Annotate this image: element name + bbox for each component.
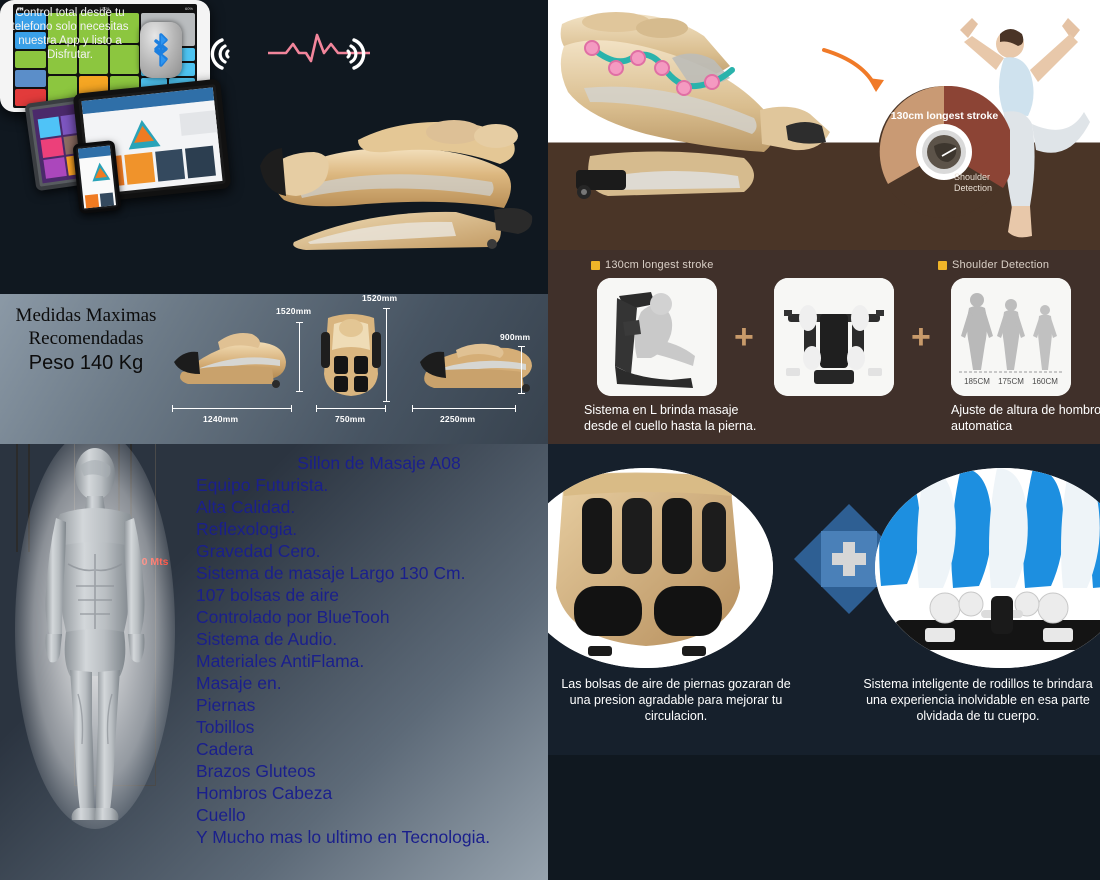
feature-list: Sillon de Masaje A08 Equipo Futurista. A… bbox=[196, 452, 536, 848]
feature-item: Gravedad Cero. bbox=[196, 540, 536, 562]
dim-bar-w2 bbox=[316, 408, 386, 409]
bluetooth-icon bbox=[140, 22, 182, 78]
tag-shoulder-detection-label: Shoulder Detection bbox=[952, 259, 1049, 271]
donut-shoulder-label: Shoulder Detection bbox=[954, 172, 1004, 194]
feature-item: Reflexologia. bbox=[196, 518, 536, 540]
feature-item: Equipo Futurista. bbox=[196, 474, 536, 496]
dim-bar-h3 bbox=[521, 346, 522, 394]
measures-panel: Medidas Maximas Recomendadas Peso 140 Kg… bbox=[0, 294, 548, 444]
feet-caption-right: Sistema inteligente de rodillos te brind… bbox=[858, 676, 1098, 724]
app-caption-text: Control total desde tu telefono solo nec… bbox=[4, 6, 136, 62]
phone-small-mock bbox=[72, 140, 121, 214]
feature-item: Hombros Cabeza bbox=[196, 782, 536, 804]
measures-title-line1: Medidas Maximas bbox=[6, 304, 166, 327]
dim-height-3: 900mm bbox=[500, 332, 530, 342]
app-control-panel: Control total desde tu telefono solo nec… bbox=[0, 0, 548, 294]
massage-chair-hero-icon bbox=[246, 92, 538, 272]
tag-shoulder-detection: Shoulder Detection bbox=[938, 259, 1049, 271]
svg-text:175CM: 175CM bbox=[998, 377, 1024, 386]
measures-title: Medidas Maximas Recomendadas Peso 140 Kg bbox=[6, 304, 166, 376]
foot-massager-photo-icon bbox=[548, 468, 773, 668]
plus-separator-1: + bbox=[734, 320, 754, 354]
massage-mechanism-icon bbox=[774, 278, 894, 396]
brown-caption-left: Sistema en L brinda masaje desde el cuel… bbox=[584, 402, 759, 434]
feature-item: Cuello bbox=[196, 804, 536, 826]
brown-feature-panel: 130cm longest stroke Shoulder Detection … bbox=[548, 250, 1100, 444]
feature-item: Sistema de masaje Largo 130 Cm. bbox=[196, 562, 536, 584]
brown-caption-right: Ajuste de altura de hombros automatica bbox=[951, 402, 1100, 434]
feature-item: 107 bolsas de aire bbox=[196, 584, 536, 606]
l-track-panel: 130cm longest stroke Shoulder Detection bbox=[548, 0, 1100, 250]
infographic-root: Control total desde tu telefono solo nec… bbox=[0, 0, 1100, 880]
measures-title-line2: Recomendadas bbox=[6, 327, 166, 350]
phone-battery: 60% bbox=[185, 6, 193, 11]
dim-height-1: 1520mm bbox=[276, 306, 311, 316]
s-track-path-icon bbox=[554, 6, 904, 244]
feature-item: Controlado por BlueTooh bbox=[196, 606, 536, 628]
feature-item: Cadera bbox=[196, 738, 536, 760]
three-body-heights-icon: 185CM 175CM 160CM bbox=[951, 278, 1071, 396]
feature-item: Masaje en. bbox=[196, 672, 536, 694]
feature-item: Piernas bbox=[196, 694, 536, 716]
dim-width-2: 750mm bbox=[335, 414, 365, 424]
feature-item: Alta Calidad. bbox=[196, 496, 536, 518]
sound-wave-right-icon bbox=[340, 36, 376, 77]
svg-text:160CM: 160CM bbox=[1032, 377, 1058, 386]
dim-bar-w3 bbox=[412, 408, 516, 409]
sound-wave-left-icon bbox=[200, 36, 236, 77]
measures-weight: Peso 140 Kg bbox=[6, 350, 166, 376]
plus-separator-2: + bbox=[911, 320, 931, 354]
product-title: Sillon de Masaje A08 bbox=[196, 452, 536, 474]
feature-item: Sistema de Audio. bbox=[196, 628, 536, 650]
square-bullet-icon bbox=[591, 261, 600, 270]
dim-width-1: 1240mm bbox=[203, 414, 238, 424]
feet-caption-left: Las bolsas de aire de piernas gozaran de… bbox=[556, 676, 796, 724]
stroke-donut-chart: 130cm longest stroke Shoulder Detection bbox=[878, 86, 1010, 218]
chair-view-side-upright-icon bbox=[172, 322, 292, 392]
chair-view-side-reclined-icon bbox=[420, 334, 536, 396]
dim-bar-w1 bbox=[172, 408, 292, 409]
donut-stroke-label: 130cm longest stroke bbox=[887, 110, 1002, 122]
feature-item: Materiales AntiFlama. bbox=[196, 650, 536, 672]
dim-bar-h2 bbox=[386, 308, 387, 402]
dim-width-3: 2250mm bbox=[440, 414, 475, 424]
square-bullet-icon bbox=[938, 261, 947, 270]
chair-view-front-icon bbox=[320, 310, 382, 402]
feature-item: Tobillos bbox=[196, 716, 536, 738]
body-and-features-panel: Codos 75 cm 50 cm 2.00 Mts bbox=[0, 444, 548, 880]
feet-massage-panel: Las bolsas de aire de piernas gozaran de… bbox=[548, 444, 1100, 755]
l-track-seated-body-icon bbox=[597, 278, 717, 396]
tag-longest-stroke: 130cm longest stroke bbox=[591, 259, 714, 271]
dim-bar-h1 bbox=[299, 322, 300, 392]
dim-height-2: 1520mm bbox=[362, 294, 397, 303]
tag-longest-stroke-label: 130cm longest stroke bbox=[605, 259, 714, 271]
human-body-figure-icon bbox=[8, 444, 183, 834]
feature-item: Y Mucho mas lo ultimo en Tecnologia. bbox=[196, 826, 536, 848]
roller-airbag-diagram-icon bbox=[875, 468, 1100, 668]
feature-item: Brazos Gluteos bbox=[196, 760, 536, 782]
svg-text:185CM: 185CM bbox=[964, 377, 990, 386]
